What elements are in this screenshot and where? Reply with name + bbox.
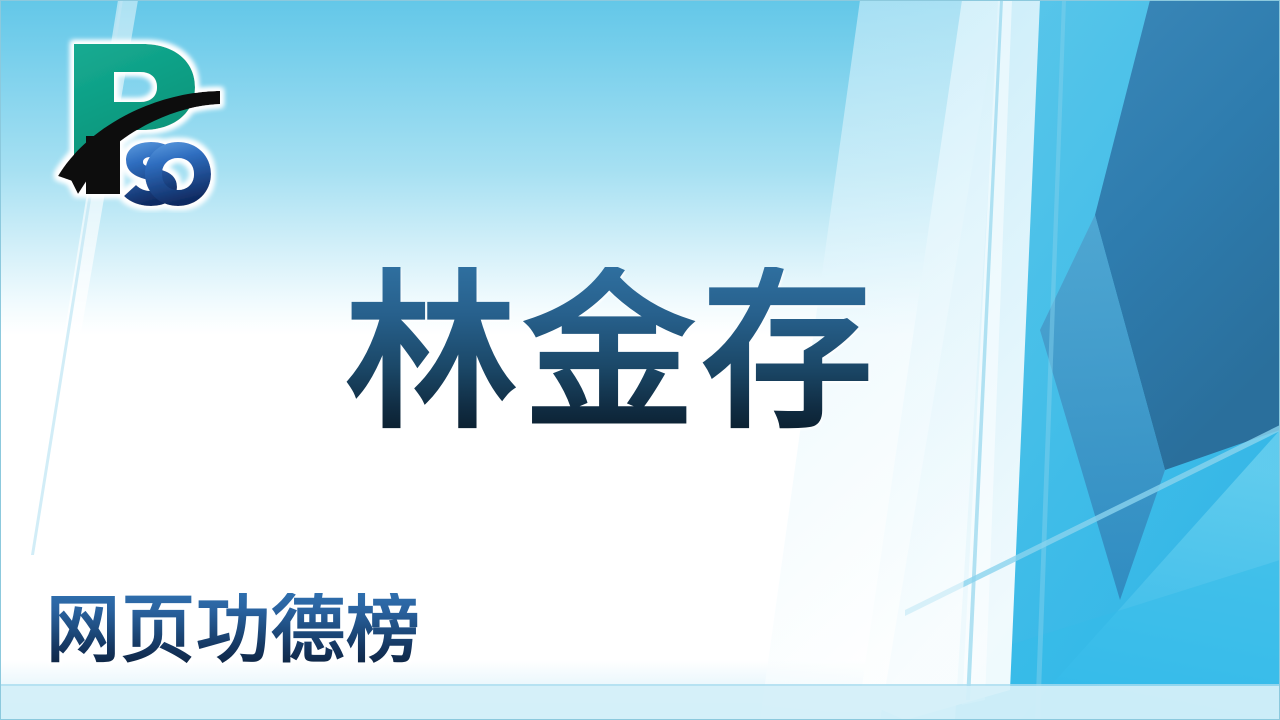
footer-caption: 网页功德榜 xyxy=(46,584,421,676)
pso-logo-marks xyxy=(58,44,220,206)
slide-canvas: 林金存 网页功德榜 xyxy=(0,0,1280,720)
pso-logo-graphic xyxy=(48,28,233,213)
logo-wordmark-o xyxy=(145,142,211,206)
slide-title: 林金存 xyxy=(345,248,945,458)
pso-logo xyxy=(48,28,233,213)
footer-caption-text: 网页功德榜 xyxy=(46,593,421,667)
slide-title-text: 林金存 xyxy=(345,267,879,439)
